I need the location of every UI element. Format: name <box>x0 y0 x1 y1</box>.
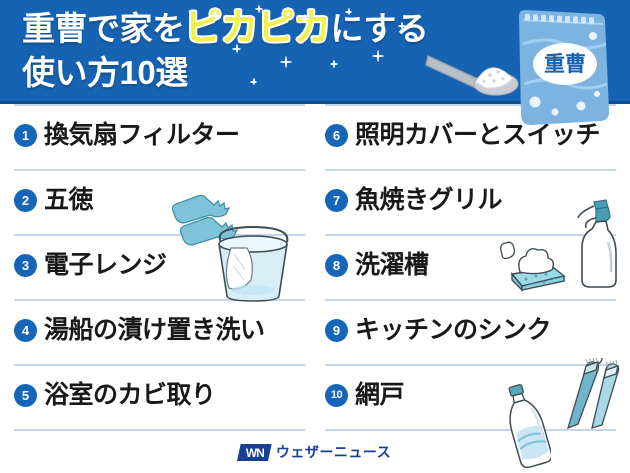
footer: WN ウェザーニュース <box>0 434 630 473</box>
item-label: 五徳 <box>44 188 93 213</box>
item-label: 換気扇フィルター <box>44 123 240 148</box>
wn-logo-text: ウェザーニュース <box>276 442 391 462</box>
list-item[interactable]: 4 湯船の漬け置き洗い <box>14 299 305 362</box>
list-item[interactable]: 9 キッチンのシンク <box>325 299 616 362</box>
wn-logo-mark: WN <box>237 444 272 461</box>
list-item[interactable]: 8 洗濯槽 <box>325 234 616 297</box>
title-text-highlight: ピカピカ <box>185 7 331 48</box>
item-number-badge: 5 <box>14 384 37 407</box>
item-label: 浴室のカビ取り <box>44 383 216 408</box>
row-divider <box>14 429 305 431</box>
title-line-1: 重曹で家をピカピカにする <box>22 6 428 51</box>
tips-list: 1 換気扇フィルター 2 五徳 3 電子レンジ <box>0 104 630 434</box>
item-number-badge: 6 <box>325 124 348 147</box>
tips-column-left: 1 換気扇フィルター 2 五徳 3 電子レンジ <box>14 104 305 434</box>
item-number-badge: 8 <box>325 254 348 277</box>
item-label: 網戸 <box>355 383 404 408</box>
item-number-badge: 1 <box>14 124 37 147</box>
item-number-badge: 10 <box>325 384 348 407</box>
item-number-badge: 2 <box>14 189 37 212</box>
item-label: キッチンのシンク <box>355 318 551 343</box>
weathernews-logo[interactable]: WN ウェザーニュース <box>239 442 391 462</box>
item-number-badge: 7 <box>325 189 348 212</box>
list-item[interactable]: 3 電子レンジ <box>14 234 305 297</box>
title-text-pre: 重曹で家を <box>22 10 185 47</box>
baking-soda-package-icon: 重曹 <box>505 6 617 128</box>
item-label: 洗濯槽 <box>355 253 429 278</box>
page-title: 重曹で家をピカピカにする 使い方10選 <box>22 6 428 95</box>
item-label: 魚焼きグリル <box>355 188 502 213</box>
list-item[interactable]: 7 魚焼きグリル <box>325 169 616 232</box>
list-item[interactable]: 5 浴室のカビ取り <box>14 364 305 427</box>
item-label: 湯船の漬け置き洗い <box>44 318 265 343</box>
list-item[interactable]: 1 換気扇フィルター <box>14 104 305 167</box>
title-line-2: 使い方10選 <box>22 51 428 95</box>
item-number-badge: 3 <box>14 254 37 277</box>
infographic-root: 重曹で家をピカピカにする 使い方10選 <box>0 0 630 473</box>
title-text-post: にする <box>331 10 429 47</box>
row-divider <box>325 429 616 431</box>
item-label: 電子レンジ <box>44 253 167 278</box>
item-number-badge: 4 <box>14 319 37 342</box>
list-item[interactable]: 10 網戸 <box>325 364 616 427</box>
package-label: 重曹 <box>544 52 586 76</box>
tips-column-right: 6 照明カバーとスイッチ 7 魚焼きグリル 8 洗濯槽 <box>325 104 616 434</box>
item-number-badge: 9 <box>325 319 348 342</box>
list-item[interactable]: 2 五徳 <box>14 169 305 232</box>
